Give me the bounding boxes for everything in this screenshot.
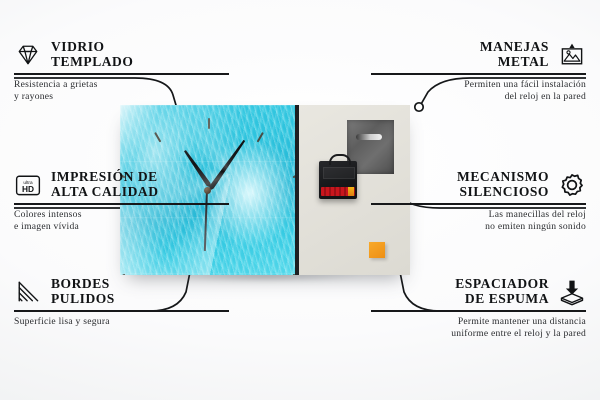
divider bbox=[14, 73, 229, 75]
connector-dot-manejas bbox=[415, 103, 423, 111]
infographic-canvas: VIDRIO TEMPLADO Resistencia a grietas y … bbox=[0, 0, 600, 400]
callout-title: MECANISMO bbox=[457, 170, 549, 185]
callout-mecanismo-silencioso: MECANISMO SILENCIOSO Las manecillas del … bbox=[371, 170, 586, 233]
callout-title-2: SILENCIOSO bbox=[457, 185, 549, 200]
divider bbox=[371, 73, 586, 75]
callout-title-2: PULIDOS bbox=[51, 292, 115, 307]
callout-title-2: DE ESPUMA bbox=[455, 292, 549, 307]
callout-espaciador-espuma: ESPACIADOR DE ESPUMA Permite mantener un… bbox=[371, 277, 586, 340]
callout-desc-2: e imagen vívida bbox=[14, 221, 229, 233]
callout-title-2: TEMPLADO bbox=[51, 55, 133, 70]
callout-manejas-metal: MANEJAS METAL Permiten una fácil instala… bbox=[371, 40, 586, 103]
callout-desc: Permite mantener una distancia bbox=[371, 316, 586, 328]
callout-desc-2: no emiten ningún sonido bbox=[371, 221, 586, 233]
foam-spacer bbox=[369, 242, 385, 258]
callout-title: IMPRESIÓN DE bbox=[51, 170, 159, 185]
callout-desc: Las manecillas del reloj bbox=[371, 209, 586, 221]
callout-vidrio-templado: VIDRIO TEMPLADO Resistencia a grietas y … bbox=[14, 40, 229, 103]
callout-desc-2: y rayones bbox=[14, 91, 229, 103]
callout-title: MANEJAS bbox=[480, 40, 549, 55]
divider bbox=[371, 310, 586, 312]
gear-icon bbox=[558, 171, 586, 199]
ultra-hd-icon: ultra HD bbox=[14, 171, 42, 199]
divider bbox=[14, 310, 229, 312]
callout-desc: Resistencia a grietas bbox=[14, 79, 229, 91]
polished-edge-icon bbox=[14, 278, 42, 306]
diamond-icon bbox=[14, 41, 42, 69]
callout-bordes-pulidos: BORDES PULIDOS Superficie lisa y segura bbox=[14, 277, 229, 328]
callout-desc-2: del reloj en la pared bbox=[371, 91, 586, 103]
callout-title-2: ALTA CALIDAD bbox=[51, 185, 159, 200]
callout-title: ESPACIADOR bbox=[455, 277, 549, 292]
callout-title: VIDRIO bbox=[51, 40, 133, 55]
callout-impresion-alta-calidad: ultra HD IMPRESIÓN DE ALTA CALIDAD Color… bbox=[14, 170, 229, 233]
picture-hanger-icon bbox=[558, 41, 586, 69]
callout-desc: Superficie lisa y segura bbox=[14, 316, 229, 328]
divider bbox=[14, 203, 229, 205]
callout-title-2: METAL bbox=[480, 55, 549, 70]
foam-spacer-icon bbox=[558, 278, 586, 306]
callout-title: BORDES bbox=[51, 277, 115, 292]
clock-mechanism bbox=[319, 161, 357, 199]
divider bbox=[371, 203, 586, 205]
callout-desc-2: uniforme entre el reloj y la pared bbox=[371, 328, 586, 340]
callout-desc: Colores intensos bbox=[14, 209, 229, 221]
svg-text:HD: HD bbox=[22, 184, 34, 194]
callout-desc: Permiten una fácil instalación bbox=[371, 79, 586, 91]
